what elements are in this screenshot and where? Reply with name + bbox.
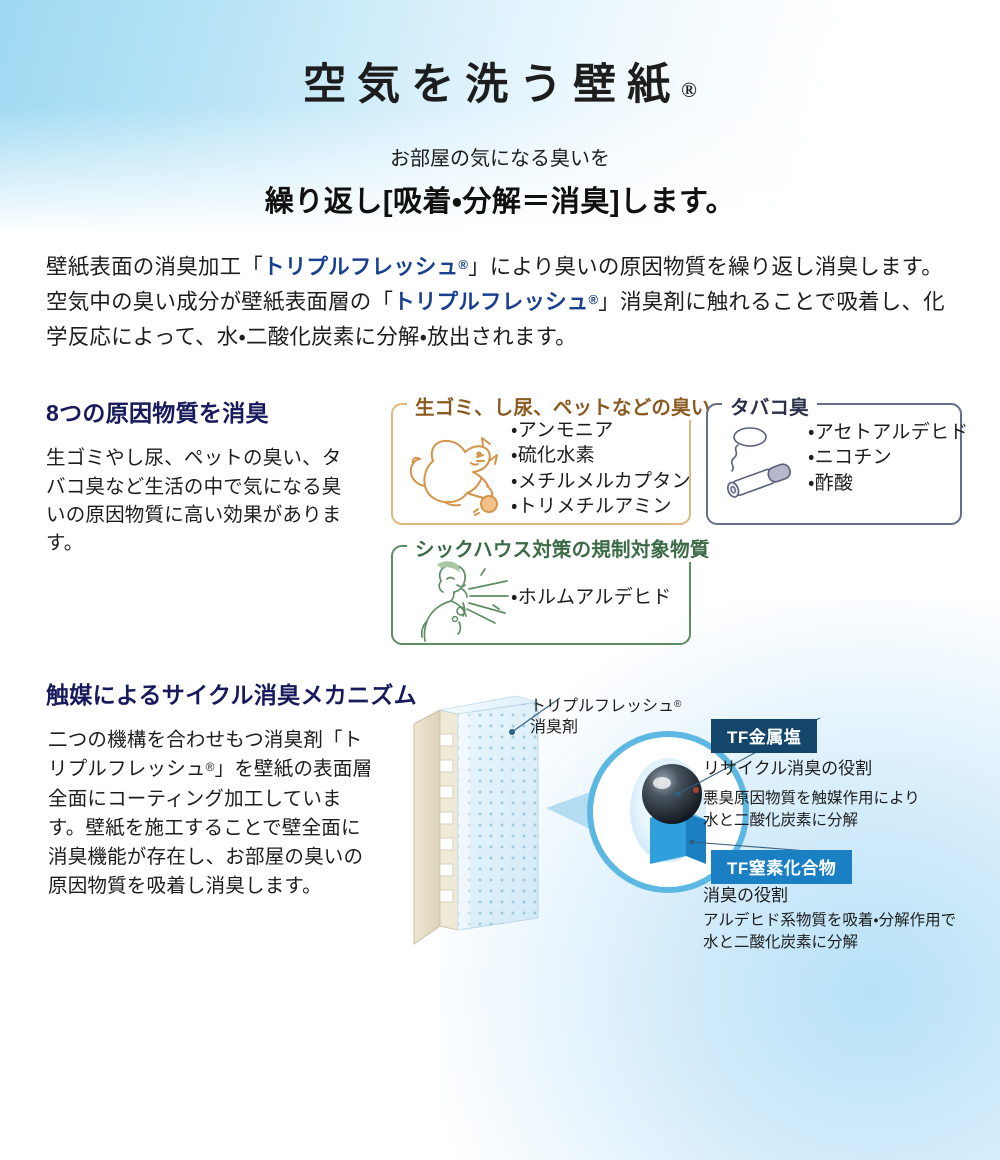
odor-box-kitchen-title: 生ゴミ、し尿、ペットなどの臭い	[407, 391, 719, 420]
list-item: ・メチルメルカプタン	[511, 469, 691, 494]
registered-trademark-icon: ®	[458, 257, 468, 272]
section-mechanism-body: 二つの機構を合わせもつ消臭剤「トリプルフレッシュ®」を壁紙の表面層全面にコーティ…	[48, 726, 378, 902]
metal-salt-description: 悪臭原因物質を触媒作用により 水と二酸化炭素に分解	[703, 788, 920, 832]
registered-trademark-icon: ®	[681, 78, 697, 102]
page-title: 空気を洗う壁紙®	[0, 0, 1000, 112]
nitrogen-role: 消臭の役割	[703, 887, 788, 904]
description-line: アルデヒド系物質を吸着・分解作用で	[703, 910, 956, 932]
odor-box-kitchen-list: ・アンモニア ・硫化水素 ・メチルメルカプタン ・トリメチルアミン	[511, 418, 691, 520]
tf-metal-salt-sphere	[642, 764, 702, 824]
brand-name-1: トリプルフレッシュ®	[263, 255, 468, 279]
callout-line-1: トリプルフレッシュ®	[530, 697, 681, 718]
lead-part-1: 壁紙表面の消臭加工「	[46, 255, 263, 279]
registered-trademark-icon: ®	[206, 760, 215, 774]
brand-name-2: トリプルフレッシュ®	[393, 290, 598, 314]
section-odor-heading: 8つの原因物質を消臭	[46, 394, 356, 428]
cat-icon	[399, 425, 511, 517]
coughing-person-icon	[407, 559, 517, 645]
odor-box-tobacco: タバコ臭 ・アセトアルデヒド ・ニコチン ・酢酸	[706, 403, 962, 525]
cigarette-icon	[714, 423, 810, 503]
metal-salt-role: リサイクル消臭の役割	[703, 760, 872, 777]
list-item: ・アセトアルデヒド	[808, 420, 969, 445]
lead-paragraph: 壁紙表面の消臭加工「トリプルフレッシュ®」により臭いの原因物質を繰り返し消臭しま…	[46, 250, 954, 354]
odor-box-kitchen: 生ゴミ、し尿、ペットなどの臭い	[391, 403, 691, 525]
subtitle-small: お部屋の気になる臭いを	[0, 142, 1000, 171]
list-item: ・アンモニア	[511, 418, 691, 443]
odor-box-sickhouse-list: ・ホルムアルデヒド	[511, 585, 672, 610]
nitrogen-description: アルデヒド系物質を吸着・分解作用で 水と二酸化炭素に分解	[703, 910, 956, 954]
list-item: ・ホルムアルデヒド	[511, 585, 672, 610]
callout-line-1-text: トリプルフレッシュ	[530, 698, 674, 715]
diagram-callout-deodorizer: トリプルフレッシュ® 消臭剤	[530, 697, 681, 739]
list-item: ・トリメチルアミン	[511, 494, 691, 519]
description-line: 水と二酸化炭素に分解	[703, 810, 920, 832]
brand-name-1-text: トリプルフレッシュ	[263, 255, 458, 279]
list-item: ・ニコチン	[808, 445, 969, 470]
subtitle-big: 繰り返し[吸着・分解＝消臭]します。	[0, 178, 1000, 220]
odor-box-tobacco-title: タバコ臭	[722, 391, 817, 420]
page-title-text: 空気を洗う壁紙	[303, 62, 681, 109]
description-line: 水と二酸化炭素に分解	[703, 932, 956, 954]
registered-trademark-icon: ®	[589, 292, 599, 307]
badge-tf-nitrogen-compound: TF窒素化合物	[711, 850, 852, 884]
odor-box-sickhouse: シックハウス対策の規制対象物質	[391, 545, 691, 645]
callout-line-2: 消臭剤	[530, 718, 681, 739]
section-odor-body: 生ゴミやし尿、ペットの臭い、タバコ臭など生活の中で気になる臭いの原因物質に高い効…	[46, 444, 356, 557]
wallpaper-front-face	[458, 702, 538, 930]
section-mechanism-heading: 触媒によるサイクル消臭メカニズム	[46, 676, 417, 710]
description-line: 悪臭原因物質を触媒作用により	[703, 788, 920, 810]
odor-box-sickhouse-title: シックハウス対策の規制対象物質	[407, 533, 718, 562]
badge-tf-metal-salt: TF金属塩	[711, 719, 817, 753]
registered-trademark-icon: ®	[674, 699, 681, 710]
section-odor-text-column: 8つの原因物質を消臭 生ゴミやし尿、ペットの臭い、タバコ臭など生活の中で気になる…	[46, 394, 356, 557]
list-item: ・硫化水素	[511, 443, 691, 468]
odor-box-tobacco-list: ・アセトアルデヒド ・ニコチン ・酢酸	[808, 420, 969, 496]
list-item: ・酢酸	[808, 471, 969, 496]
brand-name-2-text: トリプルフレッシュ	[393, 290, 588, 314]
